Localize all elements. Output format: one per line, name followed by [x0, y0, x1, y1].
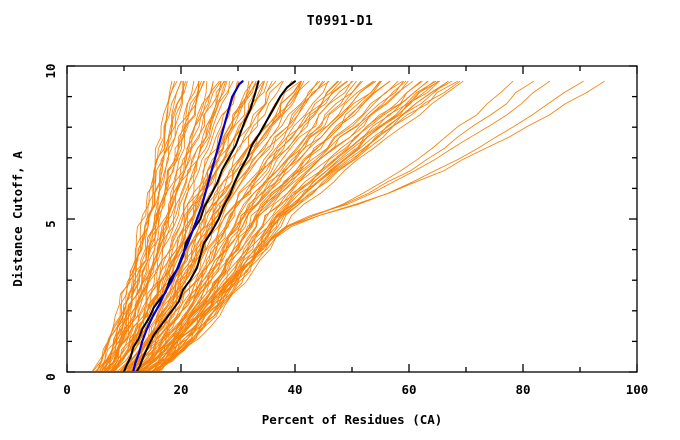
y-axis-label: Distance Cutoff, A: [10, 151, 25, 287]
x-tick-label: 20: [173, 382, 188, 397]
prediction-curve: [158, 81, 583, 372]
y-tick-label: 5: [43, 220, 58, 228]
x-tick-label: 40: [287, 382, 302, 397]
y-tick-label: 10: [43, 63, 58, 78]
x-tick-label: 0: [63, 382, 71, 397]
x-axis-label: Percent of Residues (CA): [262, 412, 443, 427]
x-tick-label: 80: [515, 382, 530, 397]
chart-root: T0991-D1 0204060801000510Percent of Resi…: [0, 0, 680, 440]
plot-canvas: 0204060801000510Percent of Residues (CA)…: [0, 0, 680, 440]
x-tick-label: 60: [401, 382, 416, 397]
x-tick-label: 100: [626, 382, 649, 397]
curve-layer: [92, 81, 604, 372]
y-tick-label: 0: [43, 373, 58, 381]
